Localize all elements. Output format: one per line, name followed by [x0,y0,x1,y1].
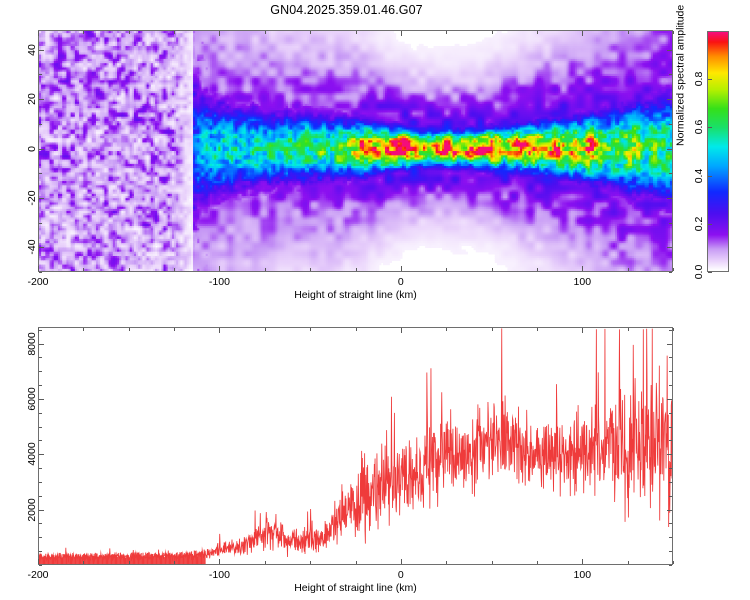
colorbar-tick-label: 0.6 [693,120,705,135]
x-minor-tick [673,561,674,564]
y-tick-label: 0 [26,146,38,152]
spectrogram-canvas [39,31,672,271]
colorbar-tick-label: 0.8 [693,72,705,87]
y-tick-label: 8000 [26,332,38,355]
spectrogram-panel [38,30,673,272]
x-tick-label: 100 [574,569,592,581]
snr-canvas [39,328,672,564]
x-tick-label: 0 [398,569,404,581]
colorbar-tick [708,272,712,273]
y-minor-tick [39,272,42,273]
y-tick-label: -20 [26,190,38,205]
y-tick-label: 20 [26,93,38,105]
figure-root: GN04.2025.359.01.46.G07 -200-1000100-40-… [0,0,750,600]
x-tick-label: -200 [27,569,48,581]
x-tick-label: -100 [209,276,230,288]
colorbar-gradient [708,32,728,271]
colorbar [707,31,729,272]
colorbar-tick-label: 0.4 [693,168,705,183]
x-minor-tick [673,268,674,271]
colorbar-tick-label: 0.2 [693,216,705,231]
y-tick-label: 40 [26,44,38,56]
snr-x-axis-title: Height of straight line (km) [294,582,417,594]
spectrogram-x-axis-title: Height of straight line (km) [294,289,417,301]
y-minor-tick [39,565,42,566]
x-tick-label: -100 [209,569,230,581]
y-tick-label: -40 [26,240,38,255]
colorbar-title: Normalized spectral amplitude [674,4,686,145]
y-right-tick [669,565,672,566]
y-tick-label: 2000 [26,498,38,521]
x-tick-label: 0 [398,276,404,288]
y-tick-label: 4000 [26,443,38,466]
page-title: GN04.2025.359.01.46.G07 [0,3,693,17]
snr-panel [38,327,673,565]
y-right-tick [669,272,672,273]
y-tick-label: 6000 [26,387,38,410]
x-top-tick [673,328,674,331]
x-tick-label: 100 [574,276,592,288]
x-tick-label: -200 [27,276,48,288]
colorbar-tick-label: 0.0 [693,265,705,280]
